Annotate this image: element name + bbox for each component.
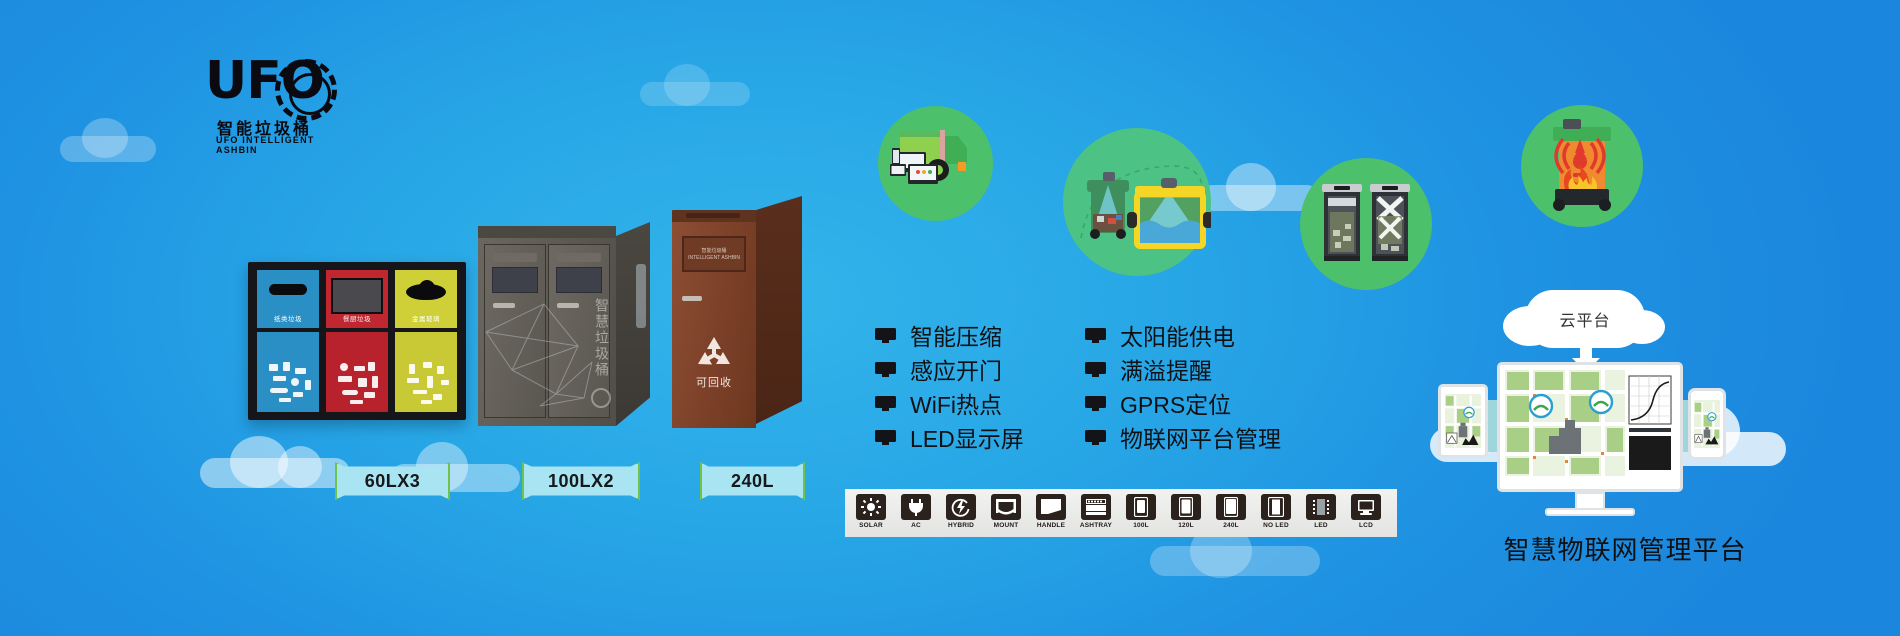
cloud-platform-label: 云平台 (1525, 290, 1645, 348)
ufo-ring-logo-icon (275, 59, 337, 121)
spec-icon-ashtray: ASHTRAY (1075, 494, 1117, 532)
spec-icon-label: ASHTRAY (1080, 522, 1112, 529)
feature-column-left: 智能压缩 感应开门 WiFi热点 LED显示屏 (875, 318, 1024, 454)
monitor-bullet-icon (875, 328, 896, 343)
bin-side-panel (756, 196, 802, 424)
compartment-top: 纸类垃圾 (257, 270, 319, 328)
spec-icon-lcd: LCD (1345, 494, 1387, 532)
waste-graphic (265, 360, 311, 412)
feature-column-right: 太阳能供电 满溢提醒 GPRS定位 物联网平台管理 (1085, 318, 1281, 454)
collection-truck-circle (878, 106, 993, 221)
bin-100l-icon (1126, 494, 1156, 520)
feature-item: 智能压缩 (875, 318, 1024, 352)
paper-slot-opening (269, 284, 307, 295)
monitor-bullet-icon (875, 430, 896, 445)
spec-icon-strip: SOLAR AC HYBRID (845, 489, 1397, 537)
bin-front-body: 智慧垃圾桶 (478, 236, 616, 426)
smartphone-device (1688, 388, 1726, 460)
bin-vertical-label: 智慧垃圾桶 (592, 298, 610, 378)
waste-graphic (334, 360, 380, 412)
compartment-body (395, 332, 457, 412)
bin-top-cap (478, 226, 616, 238)
feature-label: GPRS定位 (1120, 386, 1231, 420)
monitor-bullet-icon (875, 362, 896, 377)
feature-item: 感应开门 (875, 352, 1024, 386)
door-handle (682, 296, 702, 301)
monitor-screen (1505, 370, 1675, 476)
spec-icon-label: 120L (1178, 522, 1194, 529)
feature-label: 物联网平台管理 (1120, 420, 1281, 454)
compartment-label: 纸类垃圾 (257, 313, 319, 323)
spec-icon-solar: SOLAR (850, 494, 892, 532)
logo-english-tagline: UFO INTELLIGENT ASHBIN (216, 135, 335, 155)
door-title-plate (493, 253, 537, 262)
recycling-label: 可回收 (672, 374, 756, 390)
platform-caption: 智慧物联网管理平台 (1420, 530, 1830, 567)
side-glass-panel (636, 264, 646, 328)
bin-front-body: 智能垃圾桶 INTELLIGENT ASHBIN 可回收 (672, 210, 756, 428)
phone-screen (1694, 400, 1720, 448)
spec-icon-led: LED (1300, 494, 1342, 532)
spec-icon-hybrid: HYBRID (940, 494, 982, 532)
metal-glass-round-opening (406, 284, 446, 300)
spec-icon-label: 240L (1223, 522, 1239, 529)
compartment-top: 餐厨垃圾 (326, 270, 388, 328)
feature-label: 太阳能供电 (1120, 318, 1235, 352)
feature-label: 感应开门 (910, 352, 1002, 386)
spec-icon-label: LED (1314, 522, 1328, 529)
promo-banner: UFO 智能垃圾桶 UFO INTELLIGENT ASHBIN 纸类垃圾 (0, 0, 1900, 636)
spec-icon-100l: 100L (1120, 494, 1162, 532)
feature-label: WiFi热点 (910, 386, 1002, 420)
feature-item: 满溢提醒 (1085, 352, 1281, 386)
monitor-bullet-icon (1085, 396, 1106, 411)
display-text: 智能垃圾桶 INTELLIGENT ASHBIN (684, 248, 744, 262)
no-led-icon (1261, 494, 1291, 520)
top-vent (686, 213, 740, 218)
polygon-art-overlay (482, 298, 610, 408)
feature-item: GPRS定位 (1085, 386, 1281, 420)
power-plug-icon (901, 494, 931, 520)
lcd-icon (1351, 494, 1381, 520)
spec-icon-handle: HANDLE (1030, 494, 1072, 532)
ashtray-icon (1081, 494, 1111, 520)
monitor-bullet-icon (1085, 430, 1106, 445)
cloud-label-text: 云平台 (1559, 307, 1610, 331)
spec-icon-label: HANDLE (1037, 522, 1065, 529)
bin-top-cap (672, 210, 756, 222)
spec-icon-240l: 240L (1210, 494, 1252, 532)
desktop-monitor (1497, 362, 1683, 492)
kitchen-waste-screen (331, 278, 383, 314)
ufo-logo: UFO 智能垃圾桶 UFO INTELLIGENT ASHBIN (205, 55, 335, 150)
feature-item: WiFi热点 (875, 386, 1024, 420)
spec-icon-label: AC (911, 522, 921, 529)
spec-icon-label: LCD (1359, 522, 1373, 529)
feature-label: LED显示屏 (910, 420, 1024, 454)
handle-icon (1036, 494, 1066, 520)
compartment-label: 金属玻璃 (395, 313, 457, 323)
compaction-circle (1300, 158, 1432, 290)
compartment-body (257, 332, 319, 412)
capacity-banner-240l: 240L (700, 462, 805, 500)
feature-item: LED显示屏 (875, 420, 1024, 454)
door-display-screen (492, 267, 538, 293)
spec-icon-ac: AC (895, 494, 937, 532)
recycle-icon (694, 334, 734, 372)
fire-alarm-circle (1521, 105, 1643, 227)
door-title-plate (557, 253, 601, 262)
feature-item: 太阳能供电 (1085, 318, 1281, 352)
spec-icon-no-led: NO LED (1255, 494, 1297, 532)
led-icon (1306, 494, 1336, 520)
fill-level-sensor-circle (1063, 128, 1211, 276)
sun-icon (856, 494, 886, 520)
spec-icon-120l: 120L (1165, 494, 1207, 532)
spec-icon-label: HYBRID (948, 522, 974, 529)
feature-item: 物联网平台管理 (1085, 420, 1281, 454)
spec-icon-label: SOLAR (859, 522, 883, 529)
monitor-bullet-icon (875, 396, 896, 411)
compartment-top: 金属玻璃 (395, 270, 457, 328)
door-display-screen (556, 267, 602, 293)
spec-icon-label: NO LED (1263, 522, 1289, 529)
monitor-bullet-icon (1085, 328, 1106, 343)
bin-240l-icon (1216, 494, 1246, 520)
spec-icon-label: 100L (1133, 522, 1149, 529)
feature-label: 满溢提醒 (1120, 352, 1212, 386)
bin-compartment-paper: 纸类垃圾 (257, 270, 319, 412)
monitor-bullet-icon (1085, 362, 1106, 377)
tablet-screen (1445, 394, 1481, 448)
bin-compartment-metal-glass: 金属玻璃 (395, 270, 457, 412)
wall-mount-icon (991, 494, 1021, 520)
bin-120l-icon (1171, 494, 1201, 520)
waste-graphic (403, 360, 449, 412)
hybrid-bolt-icon (946, 494, 976, 520)
bin-compartment-kitchen: 餐厨垃圾 (326, 270, 388, 412)
spec-icon-label: MOUNT (994, 522, 1019, 529)
bin-display-panel: 智能垃圾桶 INTELLIGENT ASHBIN (682, 236, 746, 272)
smart-double-bin: 智慧垃圾桶 (478, 236, 650, 426)
iot-platform-illustration: 云平台 (1430, 290, 1820, 540)
spec-icon-mount: MOUNT (985, 494, 1027, 532)
tablet-device (1438, 384, 1488, 458)
feature-label: 智能压缩 (910, 318, 1002, 352)
triple-compartment-bin: 纸类垃圾 餐厨垃圾 (248, 262, 466, 420)
compartment-body (326, 332, 388, 412)
monitor-base (1545, 508, 1635, 516)
ufo-ring-logo-icon (591, 388, 611, 408)
compartment-label: 餐厨垃圾 (326, 313, 388, 323)
capacity-banner-100lx2: 100LX2 (522, 462, 640, 500)
capacity-banner-60lx3: 60LX3 (335, 462, 450, 500)
recycling-bin: 智能垃圾桶 INTELLIGENT ASHBIN 可回收 (672, 200, 802, 432)
